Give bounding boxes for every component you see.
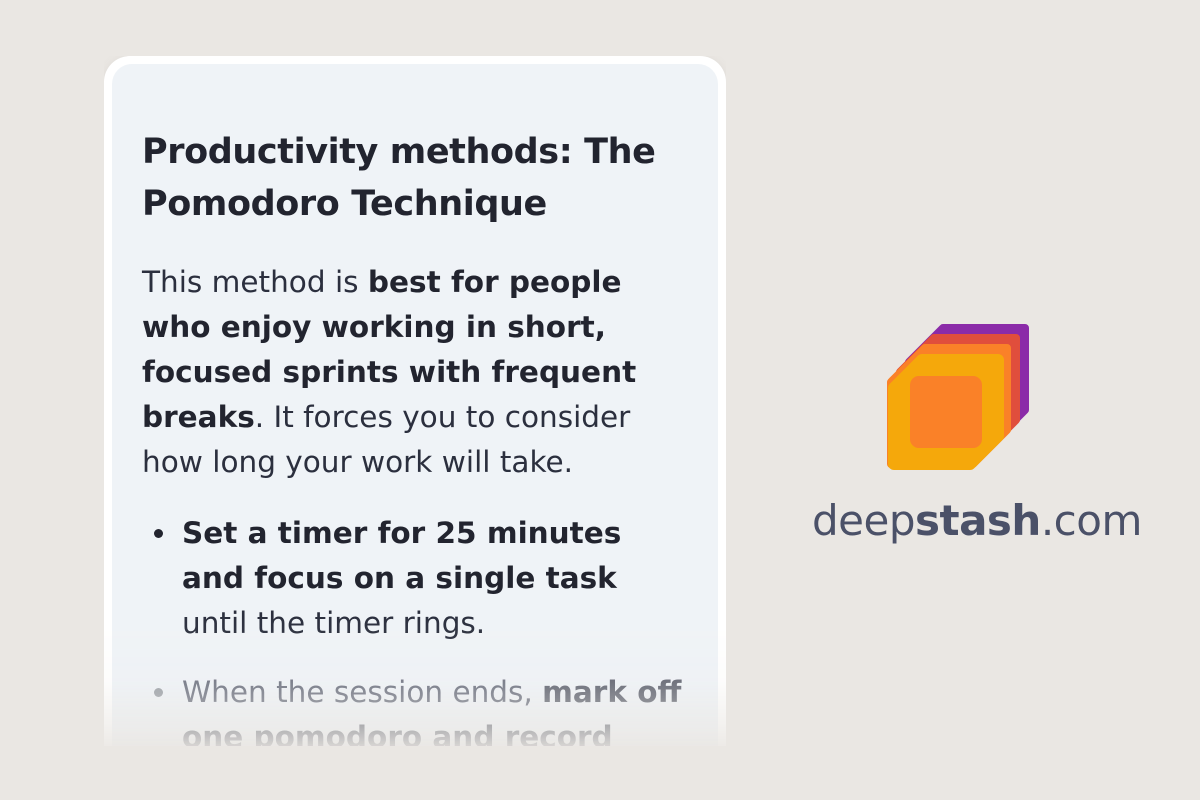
wordmark-emphasis: stash <box>915 496 1041 545</box>
wordmark-prefix: deep <box>812 496 915 545</box>
stacked-cube-icon <box>883 312 1043 472</box>
card-fade-mask: Productivity methods: The Pomodoro Techn… <box>104 56 726 746</box>
card-bullet-list: Set a timer for 25 minutes and focus on … <box>142 511 690 746</box>
brand-block: deepstash.com <box>812 312 1114 546</box>
bullet-dot-icon <box>154 529 163 538</box>
card-content: Productivity methods: The Pomodoro Techn… <box>112 64 718 746</box>
bullet-lead: When the session ends, <box>182 675 542 709</box>
bullet-tail: until the timer rings. <box>182 606 485 640</box>
card-title: Productivity methods: The Pomodoro Techn… <box>142 126 690 230</box>
deepstash-logo[interactable] <box>812 312 1114 472</box>
list-item: Set a timer for 25 minutes and focus on … <box>142 511 690 646</box>
bullet-text: When the session ends, mark off one pomo… <box>182 675 681 746</box>
brand-wordmark: deepstash.com <box>812 496 1114 546</box>
bullet-text: Set a timer for 25 minutes and focus on … <box>182 516 621 640</box>
wordmark-tld: .com <box>1041 496 1142 545</box>
card-surface: Productivity methods: The Pomodoro Techn… <box>112 64 718 746</box>
bullet-bold: Set a timer for 25 minutes and focus on … <box>182 516 621 595</box>
paragraph-lead: This method is <box>142 265 368 299</box>
bullet-dot-icon <box>154 688 163 697</box>
card-paragraph: This method is best for people who enjoy… <box>142 260 690 485</box>
list-item: When the session ends, mark off one pomo… <box>142 670 690 746</box>
stash-card[interactable]: Productivity methods: The Pomodoro Techn… <box>104 56 726 746</box>
card-border: Productivity methods: The Pomodoro Techn… <box>104 56 726 746</box>
